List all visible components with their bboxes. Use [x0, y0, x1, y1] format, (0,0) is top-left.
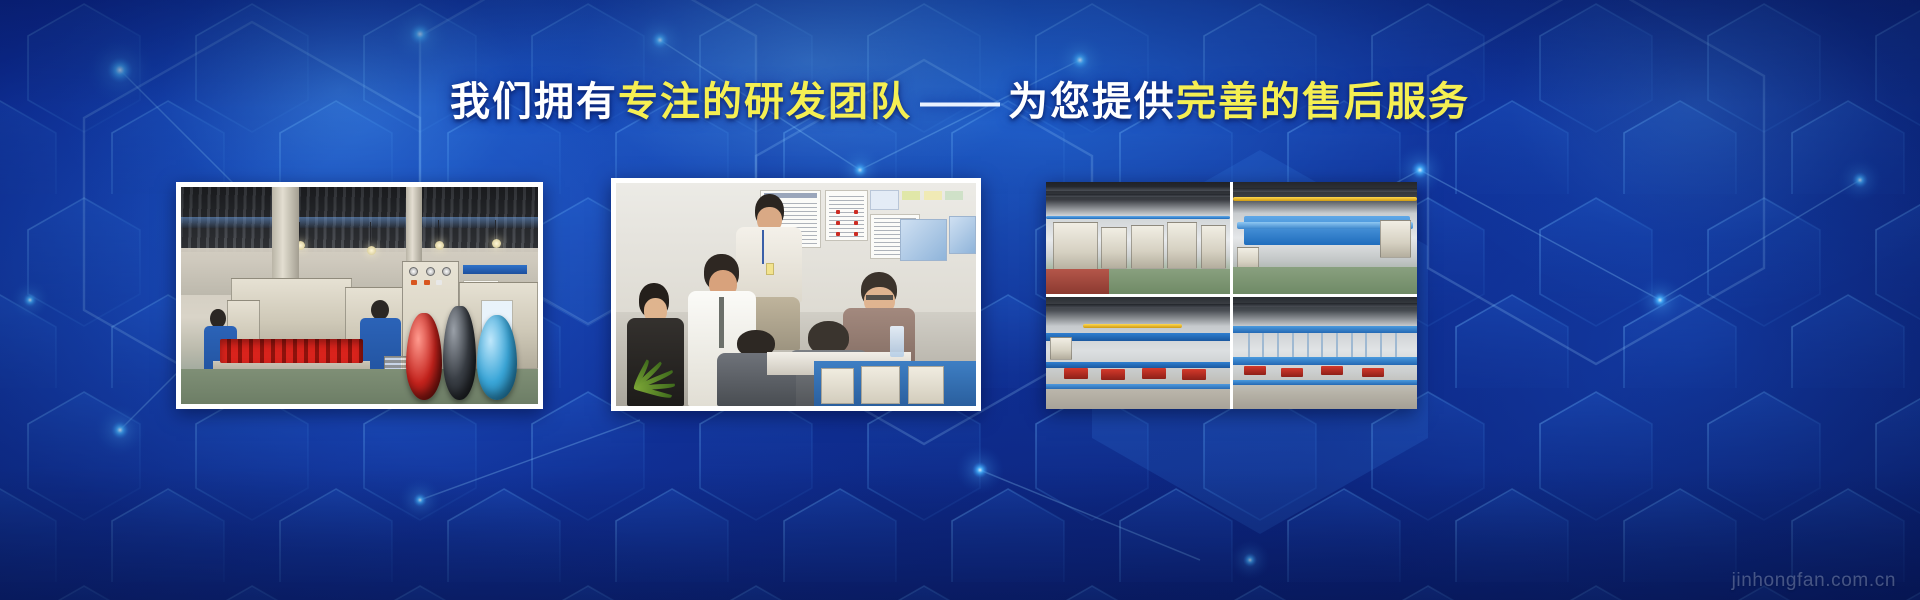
glass-vase-red — [406, 313, 442, 400]
glass-vase-blue — [477, 315, 516, 400]
headline-segment-1: 我们拥有 — [450, 80, 618, 124]
headline-segment-2: 专注的研发团队 — [618, 80, 912, 124]
glass-vase-dark — [443, 306, 475, 399]
glow-bloom-right — [1420, 0, 1920, 310]
collage-cell-conveyor-line — [1046, 297, 1230, 409]
collage-cell-coating-tunnel — [1233, 182, 1417, 294]
production-line-photo[interactable] — [176, 182, 543, 409]
headline-separator: —— — [912, 80, 1008, 124]
collage-cell-hanging-racks — [1233, 297, 1417, 409]
headline-segment-3: 为您提供 — [1008, 80, 1176, 124]
headline-segment-4: 完善的售后服务 — [1176, 80, 1470, 124]
team-meeting-photo[interactable] — [611, 178, 981, 411]
foreground-plant — [620, 335, 714, 406]
site-watermark: jinhongfan.com.cn — [1732, 570, 1896, 592]
collage-cell-workshop-hall — [1046, 182, 1230, 294]
promo-banner: 我们拥有专注的研发团队——为您提供完善的售后服务 — [0, 0, 1920, 600]
facility-collage-photo[interactable] — [1046, 182, 1417, 409]
page-title: 我们拥有专注的研发团队——为您提供完善的售后服务 — [0, 78, 1920, 126]
